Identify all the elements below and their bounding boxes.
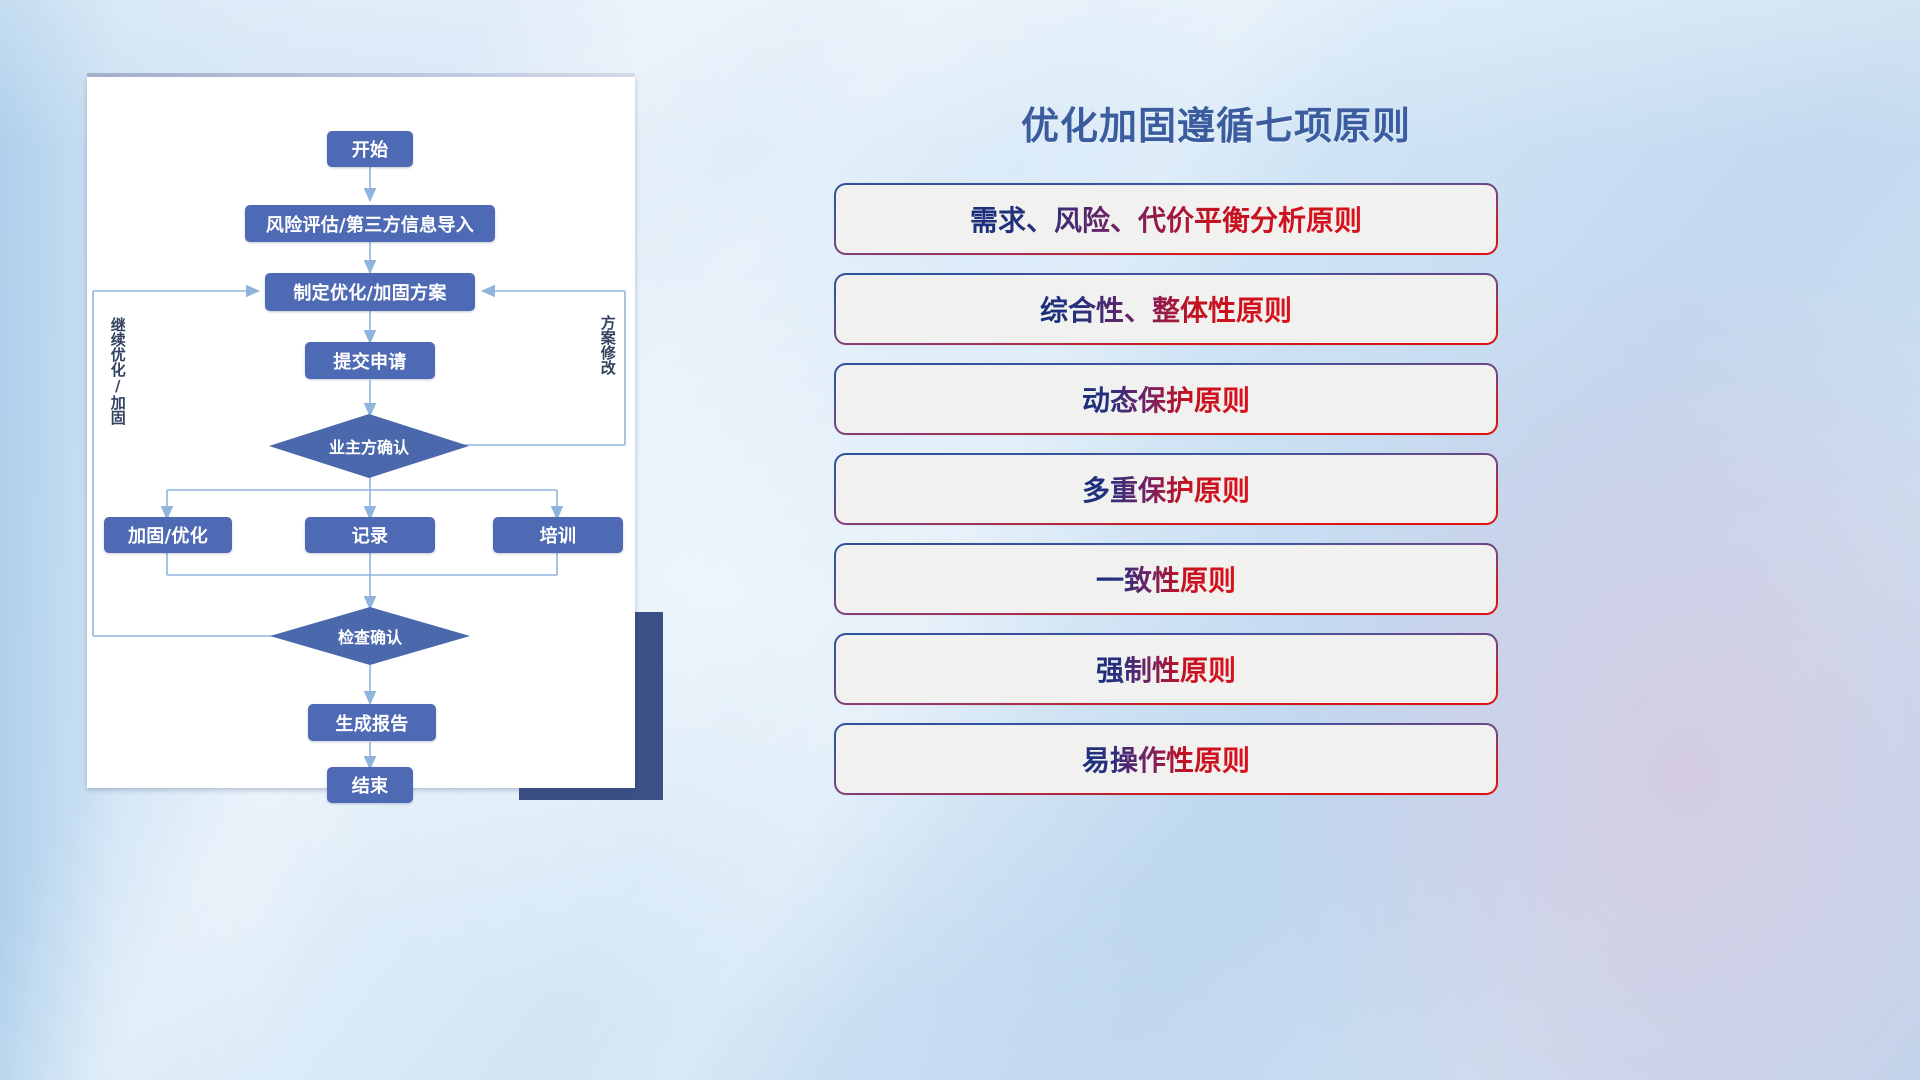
flow-node-owner-confirm[interactable]: 业主方确认 bbox=[269, 414, 469, 478]
principle-item[interactable]: 多重保护原则 bbox=[836, 455, 1496, 523]
flow-node-label: 生成报告 bbox=[335, 710, 408, 736]
flow-node-label: 业主方确认 bbox=[329, 434, 409, 458]
flow-node-label: 加固/优化 bbox=[128, 522, 208, 548]
principle-label: 综合性、整体性原则 bbox=[1040, 289, 1292, 329]
flow-node-label: 记录 bbox=[352, 522, 389, 548]
flow-node-risk-assessment[interactable]: 风险评估/第三方信息导入 bbox=[245, 205, 495, 242]
principle-label: 一致性原则 bbox=[1096, 559, 1236, 599]
principle-item[interactable]: 易操作性原则 bbox=[836, 725, 1496, 793]
principle-item[interactable]: 综合性、整体性原则 bbox=[836, 275, 1496, 343]
principle-label: 动态保护原则 bbox=[1082, 379, 1250, 419]
principle-label: 需求、风险、代价平衡分析原则 bbox=[970, 199, 1362, 239]
principle-label: 强制性原则 bbox=[1096, 649, 1236, 689]
panel-title: 优化加固遵循七项原则 bbox=[936, 95, 1496, 150]
flow-node-start[interactable]: 开始 bbox=[327, 131, 413, 167]
flow-node-label: 风险评估/第三方信息导入 bbox=[266, 211, 474, 237]
flow-edge-label-plan-revision: 方案修改 bbox=[599, 315, 615, 375]
flow-edge-label-continue-optimize: 继续优化/加固 bbox=[109, 317, 125, 425]
flow-node-label: 制定优化/加固方案 bbox=[293, 279, 446, 305]
flow-node-report[interactable]: 生成报告 bbox=[308, 704, 436, 741]
principle-item[interactable]: 需求、风险、代价平衡分析原则 bbox=[836, 185, 1496, 253]
flow-node-training[interactable]: 培训 bbox=[493, 517, 623, 553]
principle-item[interactable]: 强制性原则 bbox=[836, 635, 1496, 703]
flow-node-label: 结束 bbox=[352, 772, 389, 798]
flow-node-end[interactable]: 结束 bbox=[327, 767, 413, 803]
principles-list: 需求、风险、代价平衡分析原则 综合性、整体性原则 动态保护原则 多重保护原则 一… bbox=[836, 185, 1496, 815]
principle-label: 易操作性原则 bbox=[1082, 739, 1250, 779]
principle-item[interactable]: 一致性原则 bbox=[836, 545, 1496, 613]
principles-panel: 优化加固遵循七项原则 需求、风险、代价平衡分析原则 综合性、整体性原则 动态保护… bbox=[836, 77, 1496, 817]
principle-label: 多重保护原则 bbox=[1082, 469, 1250, 509]
flow-node-reinforce[interactable]: 加固/优化 bbox=[104, 517, 232, 553]
flow-node-check-confirm[interactable]: 检查确认 bbox=[270, 607, 470, 665]
flow-node-label: 提交申请 bbox=[333, 348, 406, 374]
flow-node-record[interactable]: 记录 bbox=[305, 517, 435, 553]
flow-node-label: 检查确认 bbox=[338, 624, 402, 648]
flowchart-card: 开始 风险评估/第三方信息导入 制定优化/加固方案 提交申请 业主方确认 加固/… bbox=[87, 77, 635, 788]
principle-item[interactable]: 动态保护原则 bbox=[836, 365, 1496, 433]
flow-node-plan[interactable]: 制定优化/加固方案 bbox=[265, 273, 475, 311]
flow-node-submit[interactable]: 提交申请 bbox=[305, 342, 435, 379]
flow-node-label: 培训 bbox=[540, 522, 577, 548]
flow-node-label: 开始 bbox=[352, 136, 389, 162]
